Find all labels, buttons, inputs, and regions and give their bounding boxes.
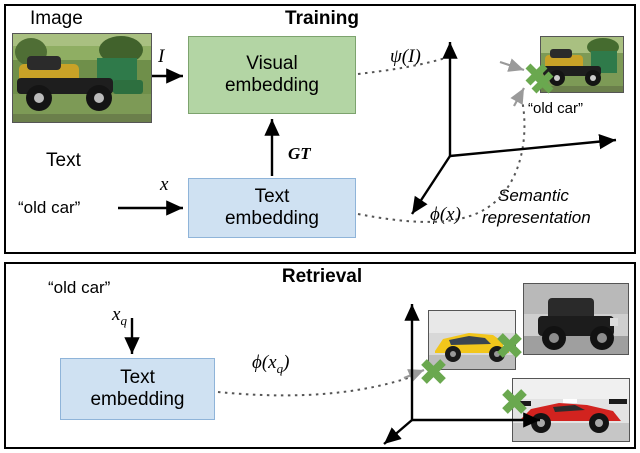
retrieval-query-symbol: xq [112,304,127,329]
edge-label-x: x [160,174,168,196]
retrieval-query-text: “old car” [48,278,110,298]
image-label: Image [30,8,83,30]
edge-label-gt: GT [288,144,311,164]
semantic-point-label: “old car” [528,100,583,117]
retrieval-phi-label: ϕ(xq) [252,352,289,377]
semantic-space-car-thumbnail [540,36,624,93]
phi-label: ϕ(x) [430,204,461,226]
visual-embedding-line1: Visual [225,53,319,75]
input-image-thumbnail [12,33,152,123]
text-embedding-box: Text embedding [188,178,356,238]
text-embedding-line2: embedding [225,208,319,230]
semantic-caption-line1: Semantic [498,186,569,206]
retrieval-phi-close: ) [283,352,289,373]
visual-embedding-box: Visual embedding [188,36,356,114]
retrieval-panel-title: Retrieval [232,266,412,288]
retrieved-yellow-sports-car-thumbnail [428,310,516,370]
psi-label: ψ(I) [390,46,421,68]
visual-embedding-line2: embedding [225,75,319,97]
text-value: “old car” [18,198,80,218]
semantic-caption-line2: representation [482,208,591,228]
retrieval-query-symbol-sub: q [120,313,127,328]
text-label: Text [46,150,81,172]
retrieval-text-embedding-line1: Text [90,367,184,389]
retrieved-old-car-thumbnail [523,283,629,355]
retrieval-text-embedding-line2: embedding [90,389,184,411]
text-embedding-line1: Text [225,186,319,208]
edge-label-I: I [158,46,164,68]
retrieval-text-embedding-box: Text embedding [60,358,215,420]
training-panel-title: Training [232,8,412,30]
retrieval-phi-base: ϕ(x [252,352,277,373]
retrieved-race-car-thumbnail [512,378,630,442]
